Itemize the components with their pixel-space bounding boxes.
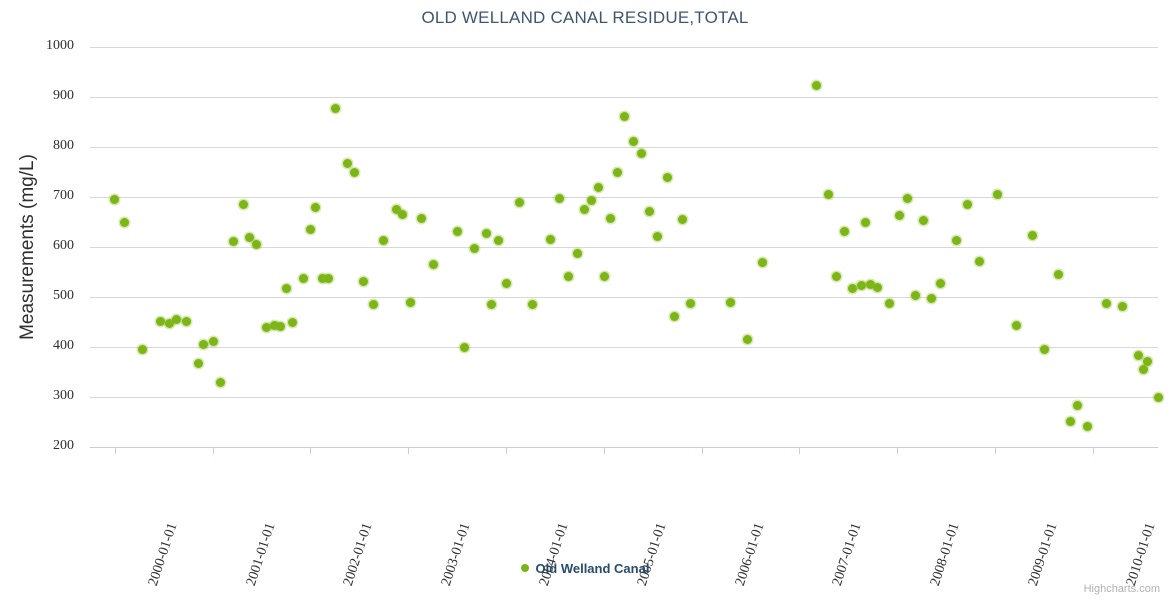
scatter-point[interactable] bbox=[502, 279, 511, 288]
scatter-point[interactable] bbox=[678, 215, 687, 224]
scatter-point[interactable] bbox=[1040, 345, 1049, 354]
scatter-point[interactable] bbox=[629, 137, 638, 146]
scatter-point[interactable] bbox=[936, 279, 945, 288]
scatter-point[interactable] bbox=[726, 298, 735, 307]
scatter-point[interactable] bbox=[216, 378, 225, 387]
scatter-point[interactable] bbox=[1134, 351, 1143, 360]
x-axis-line bbox=[90, 447, 1158, 448]
scatter-point[interactable] bbox=[580, 205, 589, 214]
scatter-point[interactable] bbox=[343, 159, 352, 168]
credits-link[interactable]: Highcharts.com bbox=[1084, 583, 1160, 595]
scatter-point[interactable] bbox=[895, 211, 904, 220]
scatter-point[interactable] bbox=[1054, 270, 1063, 279]
x-axis-tick-mark bbox=[1093, 447, 1094, 454]
x-axis-tick-mark bbox=[506, 447, 507, 454]
x-axis-tick-mark bbox=[310, 447, 311, 454]
scatter-point[interactable] bbox=[306, 225, 315, 234]
x-axis-tick-mark bbox=[702, 447, 703, 454]
chart-legend: Old Welland Canal bbox=[0, 560, 1170, 576]
scatter-point[interactable] bbox=[1073, 401, 1082, 410]
scatter-point[interactable] bbox=[1012, 321, 1021, 330]
scatter-point[interactable] bbox=[453, 227, 462, 236]
x-axis-tick-label: 2003-01-01 bbox=[439, 521, 474, 588]
scatter-point[interactable] bbox=[288, 318, 297, 327]
scatter-point[interactable] bbox=[120, 218, 129, 227]
scatter-point[interactable] bbox=[482, 229, 491, 238]
scatter-point[interactable] bbox=[645, 207, 654, 216]
scatter-point[interactable] bbox=[812, 81, 821, 90]
scatter-point[interactable] bbox=[824, 190, 833, 199]
scatter-point[interactable] bbox=[1066, 417, 1075, 426]
legend-item-old-welland-canal[interactable]: Old Welland Canal bbox=[521, 560, 650, 576]
chart-title: OLD WELLAND CANAL RESIDUE,TOTAL bbox=[0, 8, 1170, 28]
scatter-point[interactable] bbox=[857, 281, 866, 290]
scatter-point[interactable] bbox=[637, 149, 646, 158]
x-axis-tick-label: 2008-01-01 bbox=[928, 521, 963, 588]
scatter-point[interactable] bbox=[573, 249, 582, 258]
x-axis-tick-mark bbox=[995, 447, 996, 454]
scatter-point[interactable] bbox=[546, 235, 555, 244]
legend-item-label: Old Welland Canal bbox=[536, 561, 650, 576]
x-axis-tick-label: 2002-01-01 bbox=[341, 521, 376, 588]
scatter-point[interactable] bbox=[528, 300, 537, 309]
scatter-point[interactable] bbox=[758, 258, 767, 267]
scatter-point[interactable] bbox=[299, 274, 308, 283]
scatter-point[interactable] bbox=[209, 337, 218, 346]
scatter-point[interactable] bbox=[861, 218, 870, 227]
scatter-point[interactable] bbox=[663, 173, 672, 182]
scatter-point[interactable] bbox=[1139, 365, 1148, 374]
scatter-point[interactable] bbox=[487, 300, 496, 309]
y-axis-tick-label: 900 bbox=[53, 89, 74, 103]
y-axis-tick-label: 300 bbox=[53, 389, 74, 403]
x-axis-tick-label: 2005-01-01 bbox=[635, 521, 670, 588]
scatter-point[interactable] bbox=[470, 244, 479, 253]
chart-container: OLD WELLAND CANAL RESIDUE,TOTAL 20030040… bbox=[0, 0, 1170, 600]
scatter-point[interactable] bbox=[1102, 299, 1111, 308]
scatter-point[interactable] bbox=[911, 291, 920, 300]
y-axis-tick-label: 200 bbox=[53, 439, 74, 453]
y-axis-title: Measurements (mg/L) bbox=[17, 154, 39, 340]
scatter-point[interactable] bbox=[239, 200, 248, 209]
x-axis-tick-label: 2007-01-01 bbox=[830, 521, 865, 588]
gridline-500 bbox=[90, 297, 1158, 298]
scatter-point[interactable] bbox=[359, 277, 368, 286]
scatter-point[interactable] bbox=[460, 343, 469, 352]
scatter-point[interactable] bbox=[993, 190, 1002, 199]
scatter-point[interactable] bbox=[515, 198, 524, 207]
scatter-point[interactable] bbox=[840, 227, 849, 236]
x-axis-tick-label: 2001-01-01 bbox=[244, 521, 279, 588]
scatter-point[interactable] bbox=[138, 345, 147, 354]
scatter-point[interactable] bbox=[903, 194, 912, 203]
y-axis-tick-label: 800 bbox=[53, 139, 74, 153]
scatter-point[interactable] bbox=[873, 283, 882, 292]
plot-area: 2003004005006007008009001000 2000-01-012… bbox=[90, 47, 1158, 447]
scatter-point[interactable] bbox=[429, 260, 438, 269]
scatter-point[interactable] bbox=[369, 300, 378, 309]
scatter-point[interactable] bbox=[1083, 422, 1092, 431]
scatter-point[interactable] bbox=[156, 317, 165, 326]
scatter-point[interactable] bbox=[282, 284, 291, 293]
scatter-point[interactable] bbox=[229, 237, 238, 246]
scatter-point[interactable] bbox=[952, 236, 961, 245]
x-axis-tick-label: 2004-01-01 bbox=[537, 521, 572, 588]
scatter-point[interactable] bbox=[1118, 302, 1127, 311]
scatter-point[interactable] bbox=[594, 183, 603, 192]
scatter-point[interactable] bbox=[172, 315, 181, 324]
scatter-point[interactable] bbox=[963, 200, 972, 209]
scatter-point[interactable] bbox=[311, 203, 320, 212]
scatter-point[interactable] bbox=[613, 168, 622, 177]
scatter-point[interactable] bbox=[600, 272, 609, 281]
scatter-point[interactable] bbox=[686, 299, 695, 308]
y-axis-tick-label: 400 bbox=[53, 339, 74, 353]
scatter-point[interactable] bbox=[379, 236, 388, 245]
scatter-point[interactable] bbox=[324, 274, 333, 283]
scatter-point[interactable] bbox=[494, 236, 503, 245]
x-axis-tick-mark bbox=[408, 447, 409, 454]
x-axis-tick-mark bbox=[604, 447, 605, 454]
gridline-1000 bbox=[90, 47, 1158, 48]
scatter-point[interactable] bbox=[350, 168, 359, 177]
scatter-point[interactable] bbox=[110, 195, 119, 204]
scatter-point[interactable] bbox=[927, 294, 936, 303]
scatter-point[interactable] bbox=[832, 272, 841, 281]
x-axis-tick-label: 2000-01-01 bbox=[146, 521, 181, 588]
y-axis-tick-label: 1000 bbox=[46, 39, 74, 53]
gridline-600 bbox=[90, 247, 1158, 248]
scatter-point[interactable] bbox=[1154, 393, 1163, 402]
x-axis-tick-mark bbox=[115, 447, 116, 454]
scatter-point[interactable] bbox=[653, 232, 662, 241]
scatter-point[interactable] bbox=[919, 216, 928, 225]
scatter-point[interactable] bbox=[194, 359, 203, 368]
x-axis-tick-mark bbox=[799, 447, 800, 454]
gridline-400 bbox=[90, 347, 1158, 348]
legend-marker-icon bbox=[521, 564, 529, 572]
scatter-point[interactable] bbox=[1028, 231, 1037, 240]
x-axis-tick-label: 2009-01-01 bbox=[1026, 521, 1061, 588]
scatter-point[interactable] bbox=[587, 196, 596, 205]
scatter-point[interactable] bbox=[398, 210, 407, 219]
scatter-point[interactable] bbox=[743, 335, 752, 344]
y-axis-tick-label: 600 bbox=[53, 239, 74, 253]
scatter-point[interactable] bbox=[182, 317, 191, 326]
gridline-800 bbox=[90, 147, 1158, 148]
scatter-point[interactable] bbox=[406, 298, 415, 307]
scatter-point[interactable] bbox=[620, 112, 629, 121]
scatter-point[interactable] bbox=[252, 240, 261, 249]
x-axis-tick-label: 2006-01-01 bbox=[733, 521, 768, 588]
gridline-900 bbox=[90, 97, 1158, 98]
scatter-point[interactable] bbox=[199, 340, 208, 349]
y-axis-tick-label: 500 bbox=[53, 289, 74, 303]
scatter-point[interactable] bbox=[417, 214, 426, 223]
scatter-point[interactable] bbox=[975, 257, 984, 266]
gridline-300 bbox=[90, 397, 1158, 398]
y-axis-tick-label: 700 bbox=[53, 189, 74, 203]
scatter-point[interactable] bbox=[276, 322, 285, 331]
scatter-point[interactable] bbox=[606, 214, 615, 223]
x-axis-tick-mark bbox=[213, 447, 214, 454]
scatter-point[interactable] bbox=[555, 194, 564, 203]
scatter-point[interactable] bbox=[564, 272, 573, 281]
x-axis-tick-mark bbox=[897, 447, 898, 454]
scatter-point[interactable] bbox=[1143, 357, 1152, 366]
scatter-point[interactable] bbox=[331, 104, 340, 113]
x-axis-tick-label: 2010-01-01 bbox=[1124, 521, 1159, 588]
scatter-point[interactable] bbox=[670, 312, 679, 321]
scatter-point[interactable] bbox=[885, 299, 894, 308]
